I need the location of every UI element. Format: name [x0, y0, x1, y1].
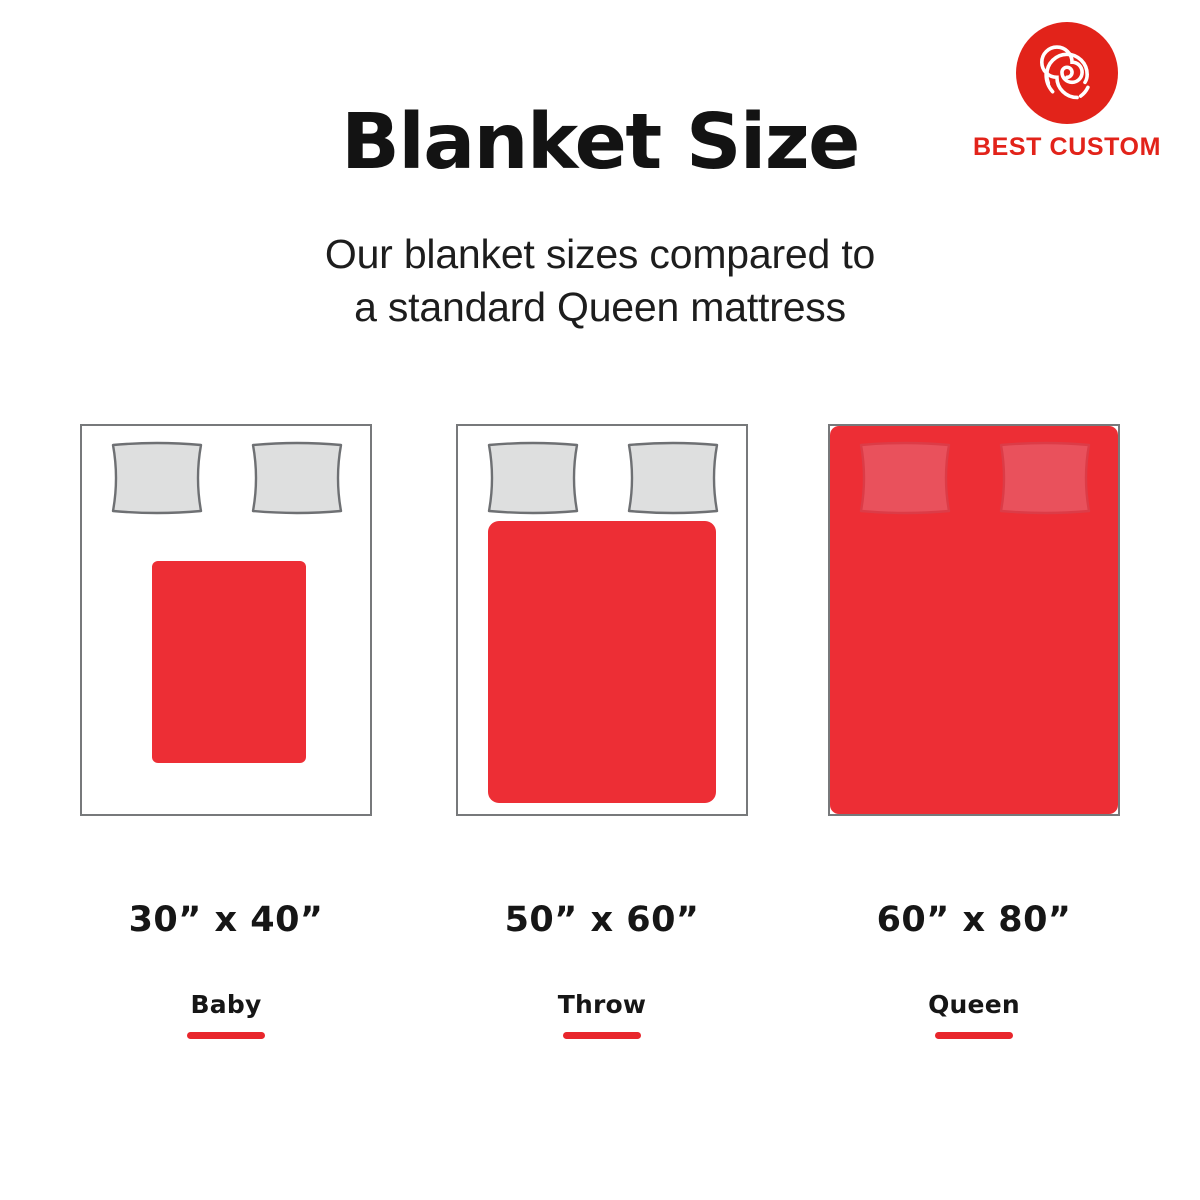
- pillow-icon: [247, 441, 347, 515]
- size-dimensions: 30” x 40”: [61, 900, 391, 940]
- pillow-icon: [855, 441, 955, 515]
- accent-rule: [935, 1032, 1013, 1039]
- bed-diagram-throw: [456, 424, 748, 816]
- accent-rule: [563, 1032, 641, 1039]
- size-name: Baby: [61, 990, 391, 1019]
- blanket-shape-baby: [152, 561, 306, 763]
- size-name: Queen: [809, 990, 1139, 1019]
- pillow-icon: [995, 441, 1095, 515]
- size-dimensions: 60” x 80”: [809, 900, 1139, 940]
- bed-diagram-baby: [80, 424, 372, 816]
- infographic-canvas: BEST CUSTOM Blanket Size Our blanket siz…: [0, 0, 1200, 1200]
- caption-throw: 50” x 60” Throw: [437, 900, 767, 1039]
- blanket-shape-throw: [488, 521, 716, 803]
- accent-rule: [187, 1032, 265, 1039]
- pillow-icon: [623, 441, 723, 515]
- pillow-icon: [483, 441, 583, 515]
- caption-queen: 60” x 80” Queen: [809, 900, 1139, 1039]
- size-name: Throw: [437, 990, 767, 1019]
- pillow-icon: [107, 441, 207, 515]
- size-dimensions: 50” x 60”: [437, 900, 767, 940]
- caption-baby: 30” x 40” Baby: [61, 900, 391, 1039]
- bed-diagram-queen: [828, 424, 1120, 816]
